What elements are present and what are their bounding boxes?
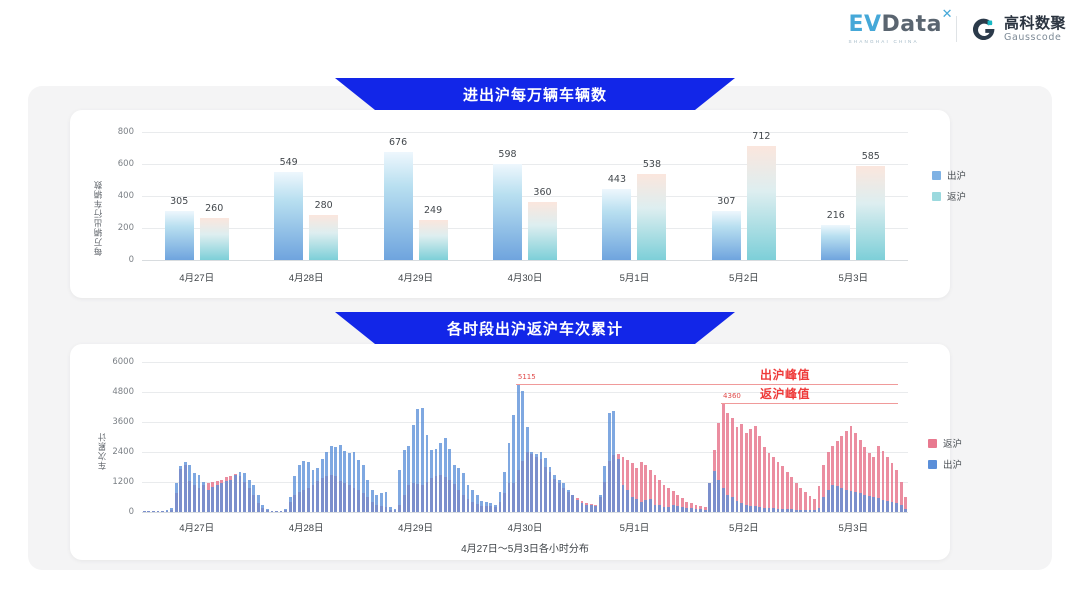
chart1-bar xyxy=(274,172,303,260)
chart2-bar-out xyxy=(649,499,652,512)
chart2-bar-out xyxy=(827,490,830,513)
chart2-bar-out xyxy=(786,509,789,512)
chart2-bar-out xyxy=(818,508,821,512)
chart2-bar-out xyxy=(353,452,356,512)
chart2-bar-out xyxy=(280,511,283,513)
chart2-bar-out xyxy=(229,480,232,513)
chart2-bar-out xyxy=(508,443,511,512)
chart2-bar-out xyxy=(298,465,301,513)
chart2-bar-out xyxy=(234,475,237,513)
chart2-bar-out xyxy=(170,508,173,512)
chart2-bar-out xyxy=(394,509,397,512)
chart2-bar-out xyxy=(904,509,907,512)
chart2-bar-out xyxy=(895,503,898,512)
chart2-bar-out xyxy=(275,511,278,512)
chart1-bar xyxy=(637,174,666,260)
chart2-bar-out xyxy=(663,507,666,512)
chart2-bar-out xyxy=(316,468,319,513)
chart2-bar-out xyxy=(366,480,369,513)
chart2-bar-out xyxy=(900,505,903,513)
section-hourly-cumulative: 各时段出沪返沪车次累计 车次累计0120024003600480060004月2… xyxy=(70,312,1010,560)
chart2-bar-out xyxy=(749,506,752,513)
chart2-bar-out xyxy=(676,506,679,513)
chart2-bar-out xyxy=(202,482,205,512)
chart1-bar-value: 598 xyxy=(498,149,516,160)
chart2-bar-out xyxy=(152,511,155,512)
chart2-bar-out xyxy=(736,501,739,512)
chart2-bar-out xyxy=(143,511,146,513)
chart2-bar-out xyxy=(439,443,442,512)
chart2-bar-out xyxy=(622,485,625,513)
chart2-bar-out xyxy=(184,462,187,512)
chart1-y-tick: 600 xyxy=(104,159,134,169)
chart2-bar-out xyxy=(220,483,223,512)
evdata-x-icon: ✕ xyxy=(942,8,953,21)
chart2-bar-out xyxy=(768,508,771,512)
gausscode-cn: 高科数聚 xyxy=(1004,16,1066,31)
chart2-bar-out xyxy=(517,384,520,512)
legend-swatch xyxy=(928,439,937,448)
chart2-bar-out xyxy=(635,499,638,512)
chart2-bar-out xyxy=(713,471,716,512)
chart2-x-tick: 4月27日 xyxy=(179,520,214,534)
chart2-bar-out xyxy=(799,510,802,512)
chart1-bar-value: 216 xyxy=(827,210,845,221)
chart1-title-banner: 进出沪每万辆车辆数 xyxy=(335,78,735,110)
chart2-bar-out xyxy=(293,476,296,512)
legend-label: 出沪 xyxy=(947,168,966,182)
chart2-bar-return xyxy=(740,424,743,512)
evdata-wordmark: EVData ✕ xyxy=(848,14,942,36)
chart2-bar-out xyxy=(540,452,543,512)
chart2-bar-out xyxy=(850,491,853,512)
chart2-bar-out xyxy=(658,505,661,512)
chart2-bar-out xyxy=(321,459,324,512)
chart2-bar-out xyxy=(544,458,547,512)
chart2-bar-out xyxy=(216,485,219,512)
evdata-data-text: Data xyxy=(882,12,942,37)
chart2-bar-out xyxy=(453,465,456,513)
chart1-bar xyxy=(200,218,229,260)
chart2-bar-out xyxy=(831,485,834,513)
chart1-bar xyxy=(712,211,741,260)
chart2-peak-line-out xyxy=(516,384,898,385)
chart2-bar-out xyxy=(179,466,182,512)
chart2-y-tick: 3600 xyxy=(100,417,134,427)
chart2-bar-out xyxy=(385,492,388,512)
chart1-x-tick: 5月3日 xyxy=(838,270,868,284)
chart2-bar-out xyxy=(175,483,178,512)
chart2-bar-out xyxy=(198,475,201,512)
chart2-bar-out xyxy=(822,497,825,512)
chart2-bar-out xyxy=(535,454,538,512)
chart2-title-banner: 各时段出沪返沪车次累计 xyxy=(335,312,735,344)
chart2-y-axis-label: 车次累计 xyxy=(96,400,108,470)
chart2-bar-out xyxy=(877,498,880,512)
chart2-bar-out xyxy=(585,505,588,513)
chart2-bar-out xyxy=(717,480,720,512)
chart2-y-tick: 6000 xyxy=(100,357,134,367)
evdata-logo: EVData ✕ SHANGHAI CHINA xyxy=(848,14,942,44)
chart2-bar-return xyxy=(749,429,752,512)
chart2-bar-out xyxy=(612,411,615,512)
chart2-bar-out xyxy=(859,493,862,512)
chart1-legend: 出沪返沪 xyxy=(932,168,966,203)
chart1-x-axis xyxy=(142,260,908,261)
chart1-gridline xyxy=(142,196,908,197)
chart2-gridline xyxy=(142,422,908,423)
chart1-plot: 每万辆出行车辆数02004006008003052604月27日5492804月… xyxy=(70,110,950,298)
chart2-bar-out xyxy=(485,502,488,512)
chart2-bar-out xyxy=(726,495,729,513)
chart2-bar-out xyxy=(362,465,365,512)
chart2-bar-out xyxy=(188,465,191,513)
chart1-x-tick: 4月29日 xyxy=(398,270,433,284)
chart2-plot: 车次累计0120024003600480060004月27日4月28日4月29日… xyxy=(70,344,950,560)
chart2-bar-out xyxy=(891,502,894,512)
chart1-y-tick: 400 xyxy=(104,191,134,201)
chart1-bar-value: 360 xyxy=(533,187,551,198)
chart2-bar-out xyxy=(457,468,460,513)
chart2-bar-out xyxy=(854,492,857,512)
chart2-bar-out xyxy=(558,480,561,513)
chart2-bar-return xyxy=(754,426,757,512)
chart2-bar-out xyxy=(530,452,533,513)
chart2-bar-out xyxy=(654,505,657,513)
chart2-y-tick: 4800 xyxy=(100,387,134,397)
page-header: EVData ✕ SHANGHAI CHINA 高科数聚 Gausscode xyxy=(0,0,1080,62)
chart2-bar-out xyxy=(772,508,775,512)
chart2-bar-out xyxy=(754,506,757,512)
chart2-x-tick: 5月3日 xyxy=(838,520,868,534)
chart2-x-axis-label: 4月27日～5月3日各小时分布 xyxy=(461,540,589,555)
chart2-bar-out xyxy=(740,503,743,512)
chart2-bar-out xyxy=(348,453,351,512)
chart2-peak-value-return: 4360 xyxy=(723,392,741,400)
chart2-bar-out xyxy=(330,446,333,512)
chart1-bar-value: 549 xyxy=(280,157,298,168)
chart2-bar-out xyxy=(211,487,214,512)
chart2-bar-out xyxy=(357,460,360,513)
chart2-bar-out xyxy=(444,438,447,512)
chart1-bar xyxy=(821,225,850,260)
chart2-bar-out xyxy=(763,508,766,513)
chart2-bar-out xyxy=(403,450,406,512)
chart2-bar-out xyxy=(261,505,264,513)
chart2-bar-out xyxy=(284,509,287,512)
chart2-bar-out xyxy=(581,503,584,513)
chart2-bar-out xyxy=(325,452,328,513)
chart2-peak-line-return xyxy=(721,403,898,404)
chart2-bar-out xyxy=(161,511,164,512)
chart2-bar-out xyxy=(617,459,620,512)
chart1-y-tick: 800 xyxy=(104,127,134,137)
chart2-bar-return xyxy=(799,488,802,513)
chart1-x-tick: 5月2日 xyxy=(729,270,759,284)
legend-swatch xyxy=(928,460,937,469)
chart1-bar xyxy=(528,202,557,260)
chart2-bar-out xyxy=(667,507,670,513)
chart2-bar-out xyxy=(412,425,415,512)
chart2-bar-return xyxy=(781,466,784,512)
chart2-bar-out xyxy=(631,497,634,512)
chart2-bar-out xyxy=(312,470,315,513)
chart2-bar-out xyxy=(886,501,889,512)
chart1-y-axis-label: 每万辆出行车辆数 xyxy=(92,138,104,256)
chart2-peak-value-out: 5115 xyxy=(518,373,536,381)
legend-swatch xyxy=(932,171,941,180)
chart1-bar-value: 305 xyxy=(170,196,188,207)
chart2-bar-return xyxy=(786,472,789,512)
chart1-bar-value: 280 xyxy=(315,200,333,211)
chart2-bar-out xyxy=(840,488,843,513)
chart2-bar-out xyxy=(503,472,506,513)
legend-label: 返沪 xyxy=(947,189,966,203)
chart1-bar-value: 585 xyxy=(862,151,880,162)
chart2-bar-out xyxy=(608,413,611,512)
chart2-bar-out xyxy=(644,500,647,512)
chart2-bar-out xyxy=(813,510,816,512)
chart2-bar-out xyxy=(603,466,606,512)
chart2-bar-out xyxy=(430,450,433,512)
gausscode-mark-icon xyxy=(971,16,997,42)
chart1-bar xyxy=(419,220,448,260)
chart2-bar-return xyxy=(795,483,798,513)
chart2-bar-out xyxy=(681,507,684,512)
chart2-bar-return xyxy=(790,477,793,512)
chart2-bar-out xyxy=(758,507,761,512)
chart1-gridline xyxy=(142,132,908,133)
chart2-bar-out xyxy=(571,495,574,513)
chart2-x-tick: 4月30日 xyxy=(508,520,543,534)
chart1-bar-value: 260 xyxy=(205,203,223,214)
chart1-x-tick: 4月28日 xyxy=(289,270,324,284)
chart2-bar-out xyxy=(722,488,725,512)
gausscode-logo: 高科数聚 Gausscode xyxy=(971,16,1066,43)
section-vehicles-per-10k: 进出沪每万辆车辆数 每万辆出行车辆数02004006008003052604月2… xyxy=(70,78,1010,298)
chart2-bar-out xyxy=(882,500,885,513)
chart2-bar-out xyxy=(562,483,565,512)
chart2-bar-out xyxy=(467,485,470,513)
chart2-bar-out xyxy=(549,467,552,512)
chart2-bar-out xyxy=(252,485,255,513)
chart2-x-axis xyxy=(142,512,908,513)
chart2-bar-return xyxy=(768,453,771,512)
chart2-bar-out xyxy=(266,509,269,512)
chart1-bar xyxy=(493,164,522,260)
chart2-x-tick: 5月2日 xyxy=(729,520,759,534)
chart1-x-tick: 4月30日 xyxy=(508,270,543,284)
chart2-bar-out xyxy=(868,496,871,512)
chart2-y-tick: 0 xyxy=(100,507,134,517)
chart2-bar-out xyxy=(690,508,693,512)
chart2-bar-out xyxy=(685,508,688,512)
chart2-bar-out xyxy=(708,483,711,513)
chart2-bar-out xyxy=(375,495,378,513)
chart2-bar-out xyxy=(471,490,474,513)
chart2-bar-return xyxy=(763,447,766,512)
chart2-gridline xyxy=(142,362,908,363)
chart1-bar-value: 712 xyxy=(752,131,770,142)
chart2-bar-out xyxy=(526,427,529,512)
chart2-bar-out xyxy=(257,495,260,513)
chart1-gridline xyxy=(142,164,908,165)
legend-item[interactable]: 返沪 xyxy=(932,189,966,203)
chart2-bar-out xyxy=(307,462,310,512)
evdata-ev-text: EV xyxy=(848,12,881,37)
chart2-bar-out xyxy=(271,511,274,513)
chart2-bar-out xyxy=(599,495,602,513)
chart2-bar-out xyxy=(626,490,629,513)
legend-label: 返沪 xyxy=(943,436,962,450)
chart2-bar-out xyxy=(790,509,793,512)
chart2-bar-out xyxy=(845,490,848,513)
chart2-bar-out xyxy=(494,505,497,513)
chart1-gridline xyxy=(142,228,908,229)
chart2-bar-out xyxy=(499,492,502,513)
legend-item[interactable]: 返沪 xyxy=(928,436,962,450)
chart2-bar-out xyxy=(339,445,342,512)
gausscode-en: Gausscode xyxy=(1004,33,1066,43)
chart1-y-tick: 0 xyxy=(104,255,134,265)
chart1-title: 进出沪每万辆车辆数 xyxy=(463,84,607,105)
chart2-bar-out xyxy=(343,451,346,512)
chart2-bar-out xyxy=(836,486,839,512)
chart2-bar-return xyxy=(772,457,775,512)
chart2-bar-out xyxy=(863,495,866,513)
chart2-bar-out xyxy=(567,490,570,513)
chart1-x-tick: 4月27日 xyxy=(179,270,214,284)
chart2-bar-out xyxy=(193,473,196,512)
chart2-title: 各时段出沪返沪车次累计 xyxy=(447,318,623,339)
chart2-bar-out xyxy=(745,505,748,513)
chart1-bar xyxy=(165,211,194,260)
chart2-bar-out xyxy=(480,501,483,512)
chart2-bar-out xyxy=(243,473,246,512)
chart2-bar-out xyxy=(421,408,424,513)
chart2-bar-out xyxy=(699,509,702,512)
chart2-bar-out xyxy=(640,502,643,512)
chart1-bar-value: 249 xyxy=(424,205,442,216)
chart2-bar-return xyxy=(758,436,761,512)
chart2-bar-out xyxy=(289,497,292,512)
chart2-bar-out xyxy=(590,505,593,512)
chart2-bar-out xyxy=(380,493,383,512)
chart2-y-tick: 2400 xyxy=(100,447,134,457)
chart1-bar-value: 307 xyxy=(717,196,735,207)
chart2-bar-out xyxy=(462,473,465,512)
chart2-bar-return xyxy=(745,433,748,513)
chart2-bar-out xyxy=(576,500,579,513)
chart1-bar xyxy=(602,189,631,260)
chart2-peak-label-return: 返沪峰值 xyxy=(760,385,810,402)
chart2-bar-out xyxy=(476,495,479,513)
chart2-bar-out xyxy=(389,507,392,513)
chart1-bar xyxy=(384,152,413,260)
legend-item[interactable]: 出沪 xyxy=(932,168,966,182)
chart2-bar-out xyxy=(872,497,875,512)
chart2-bar-out xyxy=(147,511,150,512)
chart1-bar xyxy=(309,215,338,260)
chart2-bar-out xyxy=(781,509,784,512)
chart2-bar-out xyxy=(804,510,807,512)
chart2-bar-out xyxy=(489,503,492,513)
chart1-bar-value: 538 xyxy=(643,159,661,170)
legend-item[interactable]: 出沪 xyxy=(928,457,962,471)
chart1-bar xyxy=(747,146,776,260)
chart2-legend: 返沪出沪 xyxy=(928,436,962,471)
legend-label: 出沪 xyxy=(943,457,962,471)
chart2-bar-out xyxy=(207,490,210,513)
chart2-bar-out xyxy=(435,449,438,512)
chart1-bar xyxy=(856,166,885,260)
chart1-bar-value: 676 xyxy=(389,137,407,148)
chart2-bar-out xyxy=(239,472,242,513)
chart2-peak-label-out: 出沪峰值 xyxy=(760,366,810,383)
chart2-bar-out xyxy=(371,490,374,513)
chart2-bar-return xyxy=(736,427,739,512)
chart2-bar-out xyxy=(704,510,707,513)
logo-group: EVData ✕ SHANGHAI CHINA 高科数聚 Gausscode xyxy=(848,14,1066,44)
chart2-bar-out xyxy=(553,475,556,513)
legend-swatch xyxy=(932,192,941,201)
chart2-x-tick: 5月1日 xyxy=(620,520,650,534)
chart2-bar-out xyxy=(795,510,798,513)
logo-divider xyxy=(956,16,957,42)
chart2-bar-out xyxy=(416,409,419,512)
chart2-bar-out xyxy=(407,446,410,512)
chart2-bar-out xyxy=(777,509,780,513)
chart2-bar-out xyxy=(672,505,675,513)
chart1-bar-value: 443 xyxy=(608,174,626,185)
chart2-y-tick: 1200 xyxy=(100,477,134,487)
chart2-bar-out xyxy=(731,497,734,512)
chart1-y-tick: 200 xyxy=(104,223,134,233)
chart2-bar-out xyxy=(594,506,597,513)
chart2-bar-out xyxy=(157,511,160,512)
chart2-bar-return xyxy=(777,462,780,512)
chart2-bar-out xyxy=(248,480,251,513)
chart2-bar-out xyxy=(334,447,337,512)
chart2-bar-out xyxy=(426,435,429,513)
chart2-bar-out xyxy=(695,509,698,513)
evdata-subtitle: SHANGHAI CHINA xyxy=(848,39,918,44)
chart2-x-tick: 4月29日 xyxy=(398,520,433,534)
chart2-bar-out xyxy=(398,470,401,513)
chart2-bar-out xyxy=(225,481,228,512)
chart2-bar-out xyxy=(166,510,169,512)
chart2-bar-out xyxy=(521,391,524,512)
chart2-bar-out xyxy=(302,461,305,512)
chart2-x-tick: 4月28日 xyxy=(289,520,324,534)
chart2-bar-out xyxy=(809,510,812,512)
chart2-bar-out xyxy=(448,449,451,512)
chart2-bar-out xyxy=(512,415,515,513)
gausscode-text: 高科数聚 Gausscode xyxy=(1004,16,1066,43)
chart1-x-tick: 5月1日 xyxy=(620,270,650,284)
